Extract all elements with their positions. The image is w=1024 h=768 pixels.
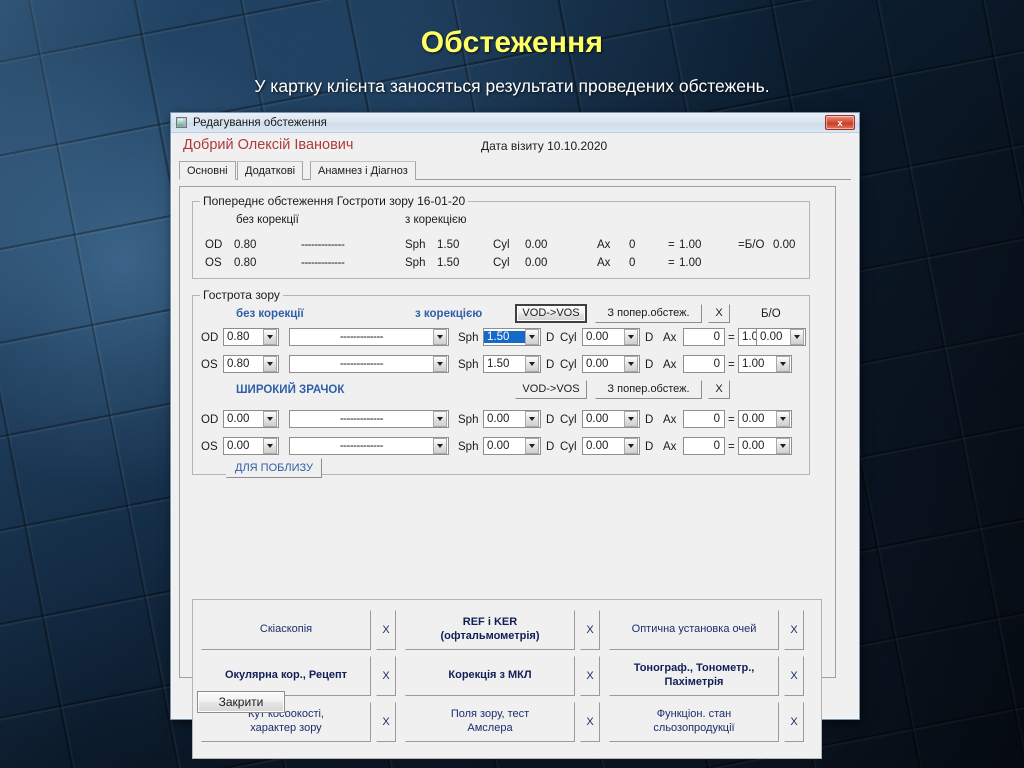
prev-row-od-cyl: 0.00 <box>525 239 547 251</box>
prev-row-od-sph: 1.50 <box>437 239 459 251</box>
wide-row-os-eq-label: = <box>728 441 735 453</box>
wide-row-od-eq-value: 0.00 <box>739 413 776 425</box>
va-row-od-acuity-combo[interactable]: 0.80 <box>223 328 279 346</box>
exam-button-optychna-ustanovka[interactable]: Оптична установка очей <box>609 610 779 650</box>
chevron-down-icon[interactable] <box>263 411 277 427</box>
va-row-os-cyl-label: Cyl <box>560 359 577 371</box>
va-row-os-sph-unit: D <box>546 359 554 371</box>
exam-button-polya-zoru[interactable]: Поля зору, тестАмслера <box>405 702 575 742</box>
va-row-od-acuity-value: 0.80 <box>224 331 263 343</box>
chevron-down-icon[interactable] <box>433 411 447 427</box>
prev-row-os-sph-label: Sph <box>405 257 425 269</box>
wide-row-od-cyl-label: Cyl <box>560 414 577 426</box>
exam-button-skiaskopia[interactable]: Скіаскопія <box>201 610 371 650</box>
wide-row-od-eq-label: = <box>728 414 735 426</box>
exam-button-funkcion-stan[interactable]: Функціон. стансльозопродукції <box>609 702 779 742</box>
chevron-down-icon[interactable] <box>263 438 277 454</box>
wide-row-od-ax-input[interactable]: 0 <box>683 410 725 428</box>
visit-date: Дата візиту 10.10.2020 <box>481 139 607 153</box>
chevron-down-icon[interactable] <box>776 438 790 454</box>
va-row-os-eq-value: 1.00 <box>739 358 776 370</box>
chevron-down-icon[interactable] <box>624 329 638 345</box>
va-row-od-ax-input[interactable]: 0 <box>683 328 725 346</box>
va-row-od-sph-value: 1.50 <box>484 331 525 343</box>
prev-row-os-va: 0.80 <box>234 257 256 269</box>
prev-row-os-cyl: 0.00 <box>525 257 547 269</box>
prev-row-os-eq: 1.00 <box>679 257 701 269</box>
exam-clear-tonograf[interactable]: X <box>784 656 804 696</box>
prev-row-os-ax: 0 <box>629 257 635 269</box>
vod-to-vos-button[interactable]: VOD->VOS <box>515 304 587 323</box>
va-row-os-eq-label: = <box>728 359 735 371</box>
from-previous-exam-button[interactable]: З попер.обстеж. <box>595 304 702 323</box>
wide-row-os-cyl-unit: D <box>645 441 653 453</box>
chevron-down-icon[interactable] <box>776 356 790 372</box>
wide-row-os-sph-label: Sph <box>458 441 478 453</box>
wide-row-od-cyl-combo[interactable]: 0.00 <box>582 410 640 428</box>
wide-row-os-acuity-combo[interactable]: 0.00 <box>223 437 279 455</box>
va-row-os-sph-value: 1.50 <box>484 358 525 370</box>
close-icon[interactable]: x <box>825 115 855 130</box>
chevron-down-icon[interactable] <box>525 411 539 427</box>
prev-row-od-dash: ------------- <box>301 239 344 251</box>
wide-row-os-eq-combo[interactable]: 0.00 <box>738 437 792 455</box>
prev-header-no-correction: без корекції <box>236 214 299 226</box>
va-row-os-acuity-value: 0.80 <box>224 358 263 370</box>
va-bo-combo[interactable]: 0.00 <box>756 328 806 346</box>
tab-page-osnovni: Попереднє обстеження Гостроти зору 16-01… <box>179 186 836 678</box>
prev-row-od-va: 0.80 <box>234 239 256 251</box>
wide-row-os-sph-value: 0.00 <box>484 440 525 452</box>
va-row-os-eye: OS <box>201 359 218 371</box>
tabstrip: Основні Додаткові Анамнез і Діагноз <box>179 161 851 180</box>
chevron-down-icon[interactable] <box>525 356 539 372</box>
va-row-os-note-value: ------------- <box>290 358 433 370</box>
clear-correction-button[interactable]: X <box>708 304 730 323</box>
wide-row-od-note-value: ------------- <box>290 413 433 425</box>
chevron-down-icon[interactable] <box>263 329 277 345</box>
wide-row-os-ax-label: Ax <box>663 441 676 453</box>
va-row-od-ax-label: Ax <box>663 332 676 344</box>
exam-clear-skiaskopia[interactable]: X <box>376 610 396 650</box>
previous-examination-legend: Попереднє обстеження Гостроти зору 16-01… <box>200 194 468 208</box>
chevron-down-icon[interactable] <box>433 329 447 345</box>
wide-row-od-acuity-combo[interactable]: 0.00 <box>223 410 279 428</box>
tab-dodatkovi[interactable]: Додаткові <box>237 161 303 180</box>
chevron-down-icon[interactable] <box>624 411 638 427</box>
close-button[interactable]: Закрити <box>197 691 285 713</box>
prev-row-os-ax-label: Ax <box>597 257 610 269</box>
va-row-os-sph-combo[interactable]: 1.50 <box>483 355 541 373</box>
va-row-od-sph-unit: D <box>546 332 554 344</box>
wide-row-od-sph-combo[interactable]: 0.00 <box>483 410 541 428</box>
prev-row-od-bo-label: =Б/О <box>738 239 764 251</box>
wide-row-os-note-combo[interactable]: ------------- <box>289 437 449 455</box>
wide-row-os-ax-input[interactable]: 0 <box>683 437 725 455</box>
exam-clear-funkcion-stan[interactable]: X <box>784 702 804 742</box>
va-row-od-cyl-value: 0.00 <box>583 331 624 343</box>
exam-button-okulyarna-kor[interactable]: Окулярна кор., Рецепт <box>201 656 371 696</box>
chevron-down-icon[interactable] <box>433 356 447 372</box>
window-app-icon <box>176 117 187 128</box>
visual-acuity-group: Гострота зору без корекції з корекцією Б… <box>192 295 810 475</box>
wide-row-od-note-combo[interactable]: ------------- <box>289 410 449 428</box>
visual-acuity-legend: Гострота зору <box>200 288 283 302</box>
va-row-os-cyl-value: 0.00 <box>583 358 624 370</box>
exam-clear-polya-zoru[interactable]: X <box>580 702 600 742</box>
slide-title: Обстеження <box>0 26 1024 60</box>
va-row-od-note-value: ------------- <box>290 331 433 343</box>
wide-row-od-sph-unit: D <box>546 414 554 426</box>
va-row-os-acuity-combo[interactable]: 0.80 <box>223 355 279 373</box>
prev-row-od-ax-label: Ax <box>597 239 610 251</box>
chevron-down-icon[interactable] <box>624 356 638 372</box>
va-row-od-note-combo[interactable]: ------------- <box>289 328 449 346</box>
exam-clear-kut-kosookosti[interactable]: X <box>376 702 396 742</box>
va-row-od-eq-label: = <box>728 332 735 344</box>
wide-row-os-eye: OS <box>201 441 218 453</box>
wide-row-os-eq-value: 0.00 <box>739 440 776 452</box>
wide-clear-button[interactable]: X <box>708 380 730 399</box>
prev-row-od-ax: 0 <box>629 239 635 251</box>
va-row-os-note-combo[interactable]: ------------- <box>289 355 449 373</box>
wide-row-os-cyl-combo[interactable]: 0.00 <box>582 437 640 455</box>
chevron-down-icon[interactable] <box>525 438 539 454</box>
exam-clear-korekciya-mkl[interactable]: X <box>580 656 600 696</box>
wide-row-od-acuity-value: 0.00 <box>224 413 263 425</box>
va-header-bo: Б/О <box>761 308 781 320</box>
wide-row-od-cyl-value: 0.00 <box>583 413 624 425</box>
previous-examination-group: Попереднє обстеження Гостроти зору 16-01… <box>192 201 810 279</box>
tab-osnovni[interactable]: Основні <box>179 161 236 180</box>
wide-row-os-sph-unit: D <box>546 441 554 453</box>
exam-button-ref-i-ker[interactable]: REF і KER(офтальмометрія) <box>405 610 575 650</box>
window-titlebar[interactable]: Редагування обстеження x <box>171 113 859 133</box>
prev-header-with-correction: з корекцією <box>405 214 466 226</box>
prev-row-od-sph-label: Sph <box>405 239 425 251</box>
chevron-down-icon[interactable] <box>790 329 804 345</box>
wide-row-os-acuity-value: 0.00 <box>224 440 263 452</box>
wide-row-od-sph-label: Sph <box>458 414 478 426</box>
wide-pupil-header: ШИРОКИЙ ЗРАЧОК <box>236 384 344 396</box>
exam-button-tonograf[interactable]: Тонограф., Тонометр.,Пахіметрія <box>609 656 779 696</box>
wide-row-os-cyl-label: Cyl <box>560 441 577 453</box>
va-row-od-cyl-unit: D <box>645 332 653 344</box>
exam-button-korekciya-mkl[interactable]: Корекція з МКЛ <box>405 656 575 696</box>
chevron-down-icon[interactable] <box>433 438 447 454</box>
wide-row-os-sph-combo[interactable]: 0.00 <box>483 437 541 455</box>
va-row-os-sph-label: Sph <box>458 359 478 371</box>
chevron-down-icon[interactable] <box>624 438 638 454</box>
prev-row-od-cyl-label: Cyl <box>493 239 510 251</box>
va-row-od-cyl-label: Cyl <box>560 332 577 344</box>
va-row-os-ax-input[interactable]: 0 <box>683 355 725 373</box>
wide-row-od-eye: OD <box>201 414 218 426</box>
prev-row-od-eq-label: = <box>668 239 675 251</box>
wide-row-od-ax-label: Ax <box>663 414 676 426</box>
va-bo-value: 0.00 <box>757 331 790 343</box>
prev-row-od-eye: OD <box>205 239 222 251</box>
examination-buttons-panel: Скіаскопія X Окулярна кор., Рецепт X Кут… <box>192 599 822 759</box>
chevron-down-icon[interactable] <box>776 411 790 427</box>
prev-row-os-dash: ------------- <box>301 257 344 269</box>
client-name: Добрий Олексій Іванович <box>183 137 353 153</box>
prev-row-od-eq: 1.00 <box>679 239 701 251</box>
va-row-od-cyl-combo[interactable]: 0.00 <box>582 328 640 346</box>
chevron-down-icon[interactable] <box>263 356 277 372</box>
near-vision-button[interactable]: ДЛЯ ПОБЛИЗУ <box>226 458 322 478</box>
va-row-od-eye: OD <box>201 332 218 344</box>
exam-clear-optychna-ustanovka[interactable]: X <box>784 610 804 650</box>
va-row-os-ax-label: Ax <box>663 359 676 371</box>
va-row-os-cyl-combo[interactable]: 0.00 <box>582 355 640 373</box>
wide-row-od-sph-value: 0.00 <box>484 413 525 425</box>
va-row-os-eq-combo[interactable]: 1.00 <box>738 355 792 373</box>
wide-row-od-cyl-unit: D <box>645 414 653 426</box>
prev-row-od-bo: 0.00 <box>773 239 795 251</box>
va-header-no-correction: без корекції <box>236 308 304 320</box>
client-header: Добрий Олексій Іванович Дата візиту 10.1… <box>171 133 859 161</box>
prev-row-os-sph: 1.50 <box>437 257 459 269</box>
wide-row-os-cyl-value: 0.00 <box>583 440 624 452</box>
va-header-with-correction: з корекцією <box>415 308 482 320</box>
tab-anamnez-diagnoz[interactable]: Анамнез і Діагноз <box>310 161 416 180</box>
prev-row-os-eye: OS <box>205 257 222 269</box>
prev-row-os-cyl-label: Cyl <box>493 257 510 269</box>
wide-row-od-eq-combo[interactable]: 0.00 <box>738 410 792 428</box>
wide-row-os-note-value: ------------- <box>290 440 433 452</box>
wide-vod-to-vos-button[interactable]: VOD->VOS <box>515 380 587 399</box>
exam-clear-okulyarna-kor[interactable]: X <box>376 656 396 696</box>
slide-subtitle: У картку клієнта заносяться результати п… <box>0 76 1024 97</box>
wide-from-previous-exam-button[interactable]: З попер.обстеж. <box>595 380 702 399</box>
va-row-os-cyl-unit: D <box>645 359 653 371</box>
va-row-od-sph-label: Sph <box>458 332 478 344</box>
window-title: Редагування обстеження <box>193 117 327 129</box>
chevron-down-icon[interactable] <box>525 329 539 345</box>
examination-edit-window: Редагування обстеження x Добрий Олексій … <box>170 112 860 720</box>
prev-row-os-eq-label: = <box>668 257 675 269</box>
exam-clear-ref-i-ker[interactable]: X <box>580 610 600 650</box>
va-row-od-sph-combo[interactable]: 1.50 <box>483 328 541 346</box>
